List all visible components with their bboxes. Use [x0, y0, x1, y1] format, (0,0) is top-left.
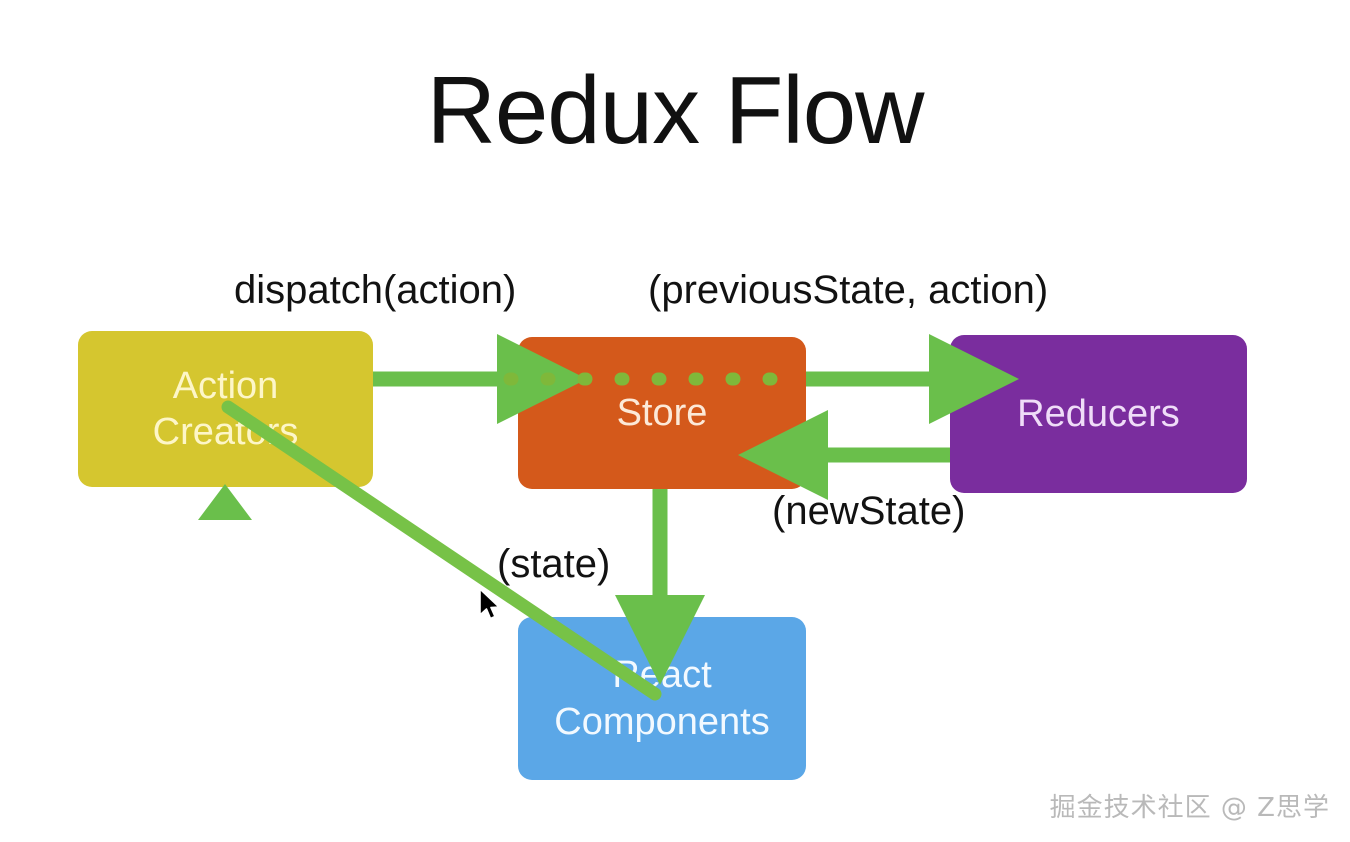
edge-label-dispatch: dispatch(action) — [234, 268, 516, 313]
node-action-creators-label-1: Action — [153, 363, 299, 409]
node-store[interactable]: Store — [518, 337, 806, 489]
node-react-components-label-1: React — [554, 652, 769, 698]
redux-flow-diagram: Redux Flow — [0, 0, 1350, 842]
edge-label-previous-state: (previousState, action) — [648, 268, 1048, 313]
node-reducers-label: Reducers — [1017, 391, 1180, 437]
arrowhead-feedback — [198, 484, 252, 520]
node-store-label: Store — [617, 390, 708, 436]
node-reducers[interactable]: Reducers — [950, 335, 1247, 493]
page-title: Redux Flow — [0, 58, 1350, 164]
mouse-cursor — [478, 588, 504, 624]
node-react-components[interactable]: React Components — [518, 617, 806, 780]
node-action-creators[interactable]: Action Creators — [78, 331, 373, 487]
node-react-components-label-2: Components — [554, 699, 769, 745]
edge-label-new-state: (newState) — [772, 489, 965, 534]
edge-label-state: (state) — [497, 542, 610, 587]
watermark: 掘金技术社区 @ Z思学 — [1050, 787, 1330, 824]
node-action-creators-label-2: Creators — [153, 409, 299, 455]
